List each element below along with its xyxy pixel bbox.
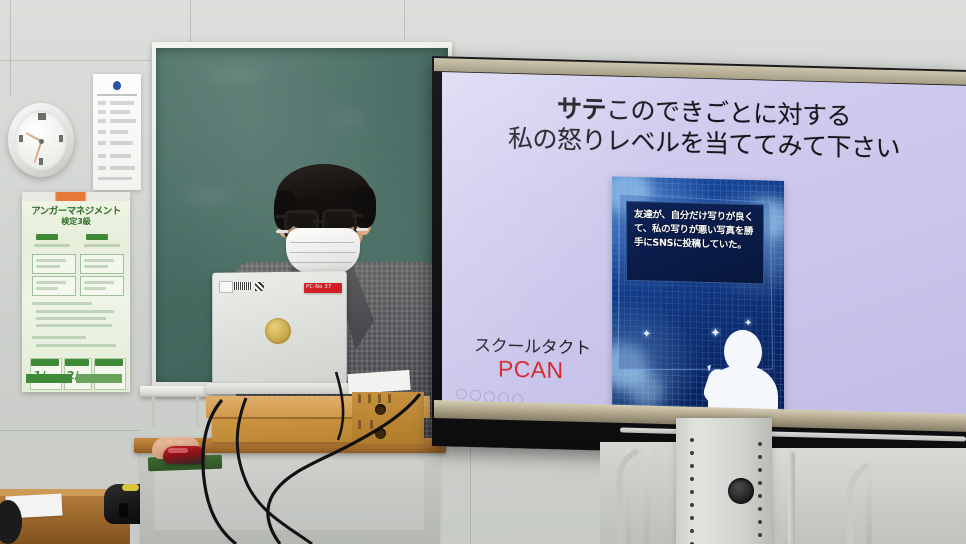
person-silhouette: [706, 329, 780, 416]
mask-strap-right: [356, 228, 368, 231]
display-screen[interactable]: サテこのできごとに対する 私の怒りレベルを当ててみて下さい 友達が、自分だけ写り…: [442, 72, 966, 416]
stand-wing-left: [600, 442, 680, 544]
laptop-emblem: [265, 318, 291, 344]
stand-post-left: [644, 444, 650, 544]
mask-strap-left: [276, 230, 288, 233]
laptop-base: [206, 383, 364, 394]
laptop-asset-sticker: [219, 281, 233, 293]
laptop-red-label-text: PC-No 37: [306, 284, 340, 290]
face-mask: [286, 228, 360, 274]
wooden-box-hole-upper: [375, 404, 386, 415]
stand-post-left-outer: [626, 448, 631, 544]
slide-image-panel: 友達が、自分だけ写りが良く て、私の写りが悪い写真を勝 手にSNSに投稿していた…: [612, 176, 784, 415]
wall-seam: [10, 0, 11, 96]
wall-notice-sheet: [93, 74, 141, 190]
bag-yellow-accent: [122, 484, 139, 491]
slide-title-line2: 私の怒りレベルを当ててみて下さい: [442, 121, 966, 166]
stand-hole-column-right: [758, 442, 762, 544]
poster-heading: アンガーマネジメント: [22, 203, 130, 217]
screen-button-1[interactable]: [456, 388, 467, 399]
clock-numeral: 9: [19, 135, 23, 142]
mouse-highlight: [168, 448, 188, 453]
glasses-bridge: [313, 220, 323, 223]
bag-opening: [119, 503, 128, 517]
stand-post-right: [866, 456, 872, 544]
wall-seam: [404, 0, 405, 40]
stand-port: [728, 478, 754, 504]
slide-brand-pcan: PCAN: [498, 355, 564, 384]
classroom-scene: 12 3 6 9 アンガーマネジメント 検定3級: [0, 0, 966, 544]
glasses-arm-right: [351, 214, 363, 217]
card-text-line3: 手にSNSに投稿していた。: [634, 236, 756, 253]
slide-brand-japanese: スクールタクト: [474, 331, 591, 359]
laptop-barcode-sticker: [234, 282, 252, 290]
sparkle-icon: ✦: [744, 318, 752, 329]
slide-card-textbox: 友達が、自分だけ写りが良く て、私の写りが悪い写真を勝 手にSNSに投稿していた…: [626, 201, 764, 285]
stand-leg-center: [788, 452, 795, 544]
clock-numeral: 6: [39, 158, 43, 165]
notice-logo-icon: [113, 81, 121, 90]
glasses-arm-left: [276, 215, 288, 218]
anger-management-poster: アンガーマネジメント 検定3級 1/ 2/: [22, 192, 130, 392]
wall-seam: [0, 60, 150, 61]
slide-title-bold-prefix: サテ: [557, 94, 606, 124]
poster-top-band: [22, 192, 130, 201]
wall-seam: [0, 430, 140, 431]
clock-numeral: 12: [38, 113, 46, 120]
stand-hole-column-left: [690, 438, 694, 544]
laptop-qr-sticker: [255, 282, 264, 291]
wooden-box-hole-lower: [375, 428, 386, 439]
clock-numeral: 3: [59, 135, 63, 142]
wall-seam: [190, 0, 191, 42]
sparkle-icon: ✦: [642, 327, 651, 340]
slide-title: サテこのできごとに対する 私の怒りレベルを当ててみて下さい: [442, 90, 966, 166]
wall-seam: [470, 432, 471, 544]
poster-subheading: 検定3級: [22, 216, 130, 227]
clock-center: [39, 139, 44, 144]
screen-button-2[interactable]: [470, 390, 481, 401]
